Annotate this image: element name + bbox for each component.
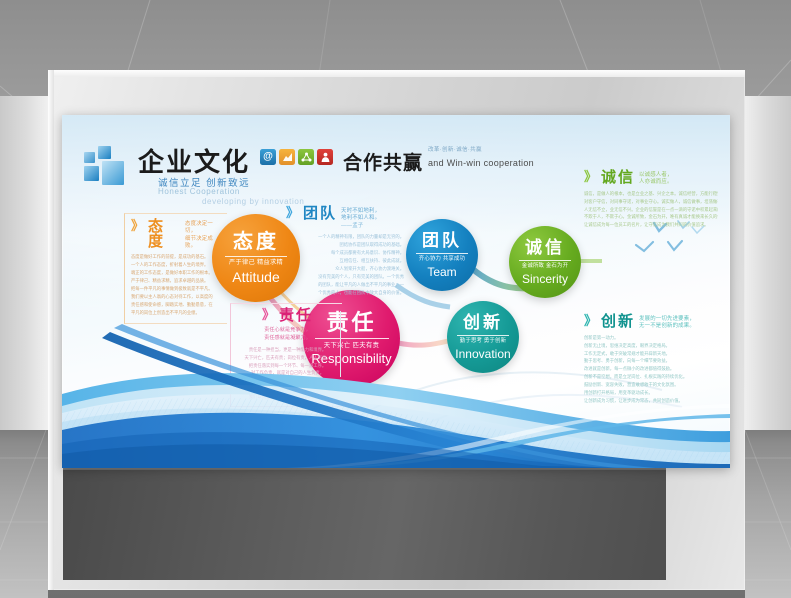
panel-sincerity-motto: 以诚感人者， 人亦诚而应。 (639, 170, 673, 187)
bar-chart-icon (279, 149, 295, 165)
panel-sincerity-head: 》 诚信 以诚感人者， 人亦诚而应。 (584, 170, 718, 187)
wall-left-edge (48, 70, 54, 590)
header-slogan-keywords: 改革·创新·诚信·共赢 (428, 145, 482, 153)
at-sign-icon: @ (260, 149, 276, 165)
bubble-team-en: Team (427, 266, 456, 278)
bubble-attitude-en: Attitude (232, 270, 279, 284)
chevron-right-icon: 》 (286, 206, 299, 219)
bubble-sincerity[interactable]: 诚信 金诚所致 金石为开 Sincerity (509, 226, 581, 298)
network-nodes-icon (298, 149, 314, 165)
chevron-right-icon: 》 (584, 170, 597, 183)
panel-team: 》 团队 天时不如地利， 地利不如人和。 ——孟子 一个人的精神有限，团队的力量… (284, 203, 406, 301)
panel-team-body: 一个人的精神有限，团队的力量却是无穷的。 团结协作是团队取得成功的基础。 每个成… (286, 234, 404, 297)
panel-attitude-body: 态度是做好工作的前提，是成功的基石。 一个人的工作态度，折射着人生的境界。 端正… (131, 254, 223, 317)
blue-squares-logo (84, 146, 130, 188)
panel-team-title: 团队 (303, 206, 337, 221)
bubble-sincerity-motto: 金诚所致 金石为开 (522, 264, 568, 270)
panel-attitude-title: 态度 (148, 219, 181, 249)
divider (519, 260, 571, 261)
divider (225, 256, 287, 257)
bubble-attitude-motto: 严于律己 精益求精 (229, 260, 283, 267)
panel-attitude-head: 》 态度 态度决定一切， 细节决定成败。 (131, 219, 223, 250)
panel-sincerity: 》 诚信 以诚感人者， 人亦诚而应。 诚信，是做人的根本，也是立业之基、兴企之本… (581, 167, 721, 233)
blue-wave-decoration (62, 318, 730, 468)
logo-square-1 (84, 152, 95, 163)
bubble-sincerity-en: Sincerity (522, 273, 568, 285)
logo-square-3 (84, 166, 99, 181)
bubble-team-motto: 齐心协力 共享成功 (419, 257, 465, 263)
person-glyph (320, 152, 331, 163)
panel-team-head: 》 团队 天时不如地利， 地利不如人和。 ——孟子 (286, 206, 404, 230)
network-glyph (301, 152, 312, 163)
panel-attitude-motto: 态度决定一切， 细节决定成败。 (185, 219, 223, 250)
bubble-team-cn: 团队 (422, 232, 462, 249)
logo-square-2 (98, 146, 111, 159)
bubble-sincerity-cn: 诚信 (525, 239, 565, 256)
panel-attitude: 》 态度 态度决定一切， 细节决定成败。 态度是做好工作的前提，是成功的基石。 … (124, 213, 227, 324)
divider (416, 253, 468, 254)
panel-sincerity-title: 诚信 (601, 170, 635, 185)
wall-top-edge (48, 70, 745, 77)
wall-pedestal (63, 468, 666, 580)
panel-team-motto: 天时不如地利， 地利不如人和。 ——孟子 (341, 206, 380, 230)
panel-sincerity-body: 诚信，是做人的根本，也是立业之基、兴企之本。诚信经营，方能行稳致远。 对客户守信… (584, 191, 718, 230)
poster-subtitle-en-1: Honest Cooperation (158, 187, 240, 196)
header-slogan-en: and Win-win cooperation (428, 158, 534, 168)
bar-chart-glyph (282, 152, 293, 163)
header-slogan-cn: 合作共赢 (343, 148, 423, 175)
waves-svg (62, 318, 730, 468)
poster-title: 企业文化 (138, 142, 250, 179)
header-icon-row: @ (260, 149, 333, 165)
person-icon (317, 149, 333, 165)
room-scene: 企业文化 诚信立足 创新致远 Honest Cooperation develo… (0, 0, 791, 598)
chevron-right-icon: 》 (131, 219, 144, 232)
bubble-team[interactable]: 团队 齐心协力 共享成功 Team (406, 219, 478, 291)
logo-square-4 (102, 161, 124, 185)
culture-poster: 企业文化 诚信立足 创新致远 Honest Cooperation develo… (62, 115, 730, 468)
bubble-attitude-cn: 态度 (233, 232, 279, 252)
